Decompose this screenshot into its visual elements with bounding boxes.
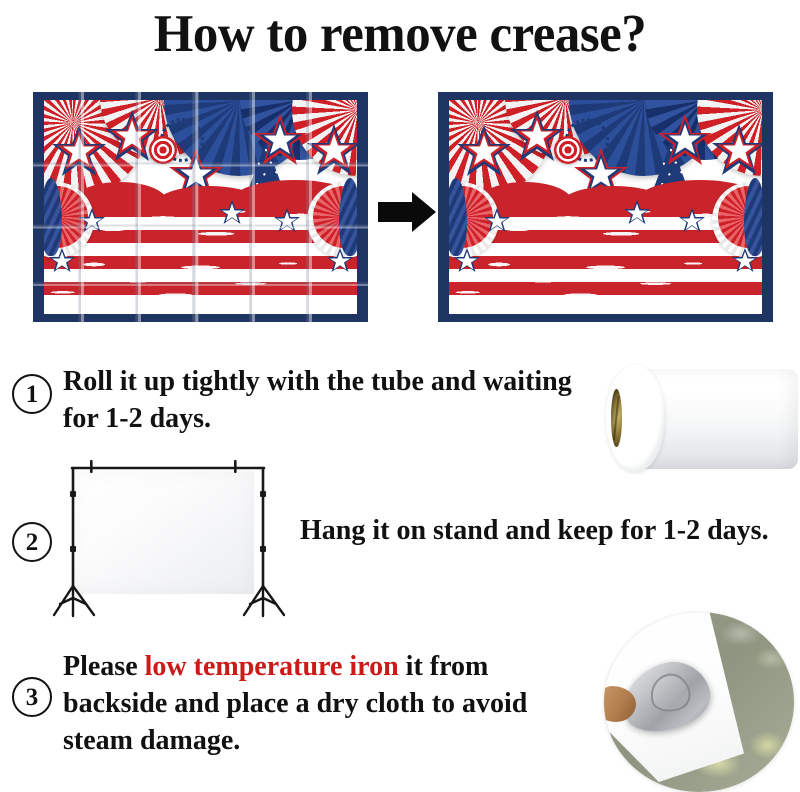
step-3-text: Please low temperature iron it from back… xyxy=(63,648,593,760)
stripe-stars-group xyxy=(44,100,357,313)
creased-backdrop-photo xyxy=(33,92,368,322)
step-1-number: 1 xyxy=(26,382,39,407)
step-3-part-1: Please xyxy=(63,651,145,682)
instruction-page: How to remove crease? xyxy=(0,0,800,792)
step-1-text: Roll it up tightly with the tube and wai… xyxy=(63,363,583,437)
ironing-photo xyxy=(604,612,794,792)
step-2-sentence: Hang it on stand and keep for 1-2 days. xyxy=(300,515,769,546)
smooth-backdrop-photo xyxy=(438,92,773,322)
paper-roll-photo xyxy=(602,356,798,484)
stripe-stars-group xyxy=(449,100,762,313)
right-arrow-icon xyxy=(378,191,436,233)
page-title: How to remove crease? xyxy=(16,4,784,64)
step-1-badge: 1 xyxy=(12,374,52,414)
step-3-number: 3 xyxy=(26,685,39,710)
step-2-text: Hang it on stand and keep for 1-2 days. xyxy=(300,512,780,549)
step-3-highlight: low temperature iron xyxy=(145,651,399,682)
step-2-number: 2 xyxy=(26,530,39,555)
step-3-badge: 3 xyxy=(12,677,52,717)
step-1-sentence: Roll it up tightly with the tube and wai… xyxy=(63,366,572,434)
backdrop-stand-photo xyxy=(42,458,294,618)
